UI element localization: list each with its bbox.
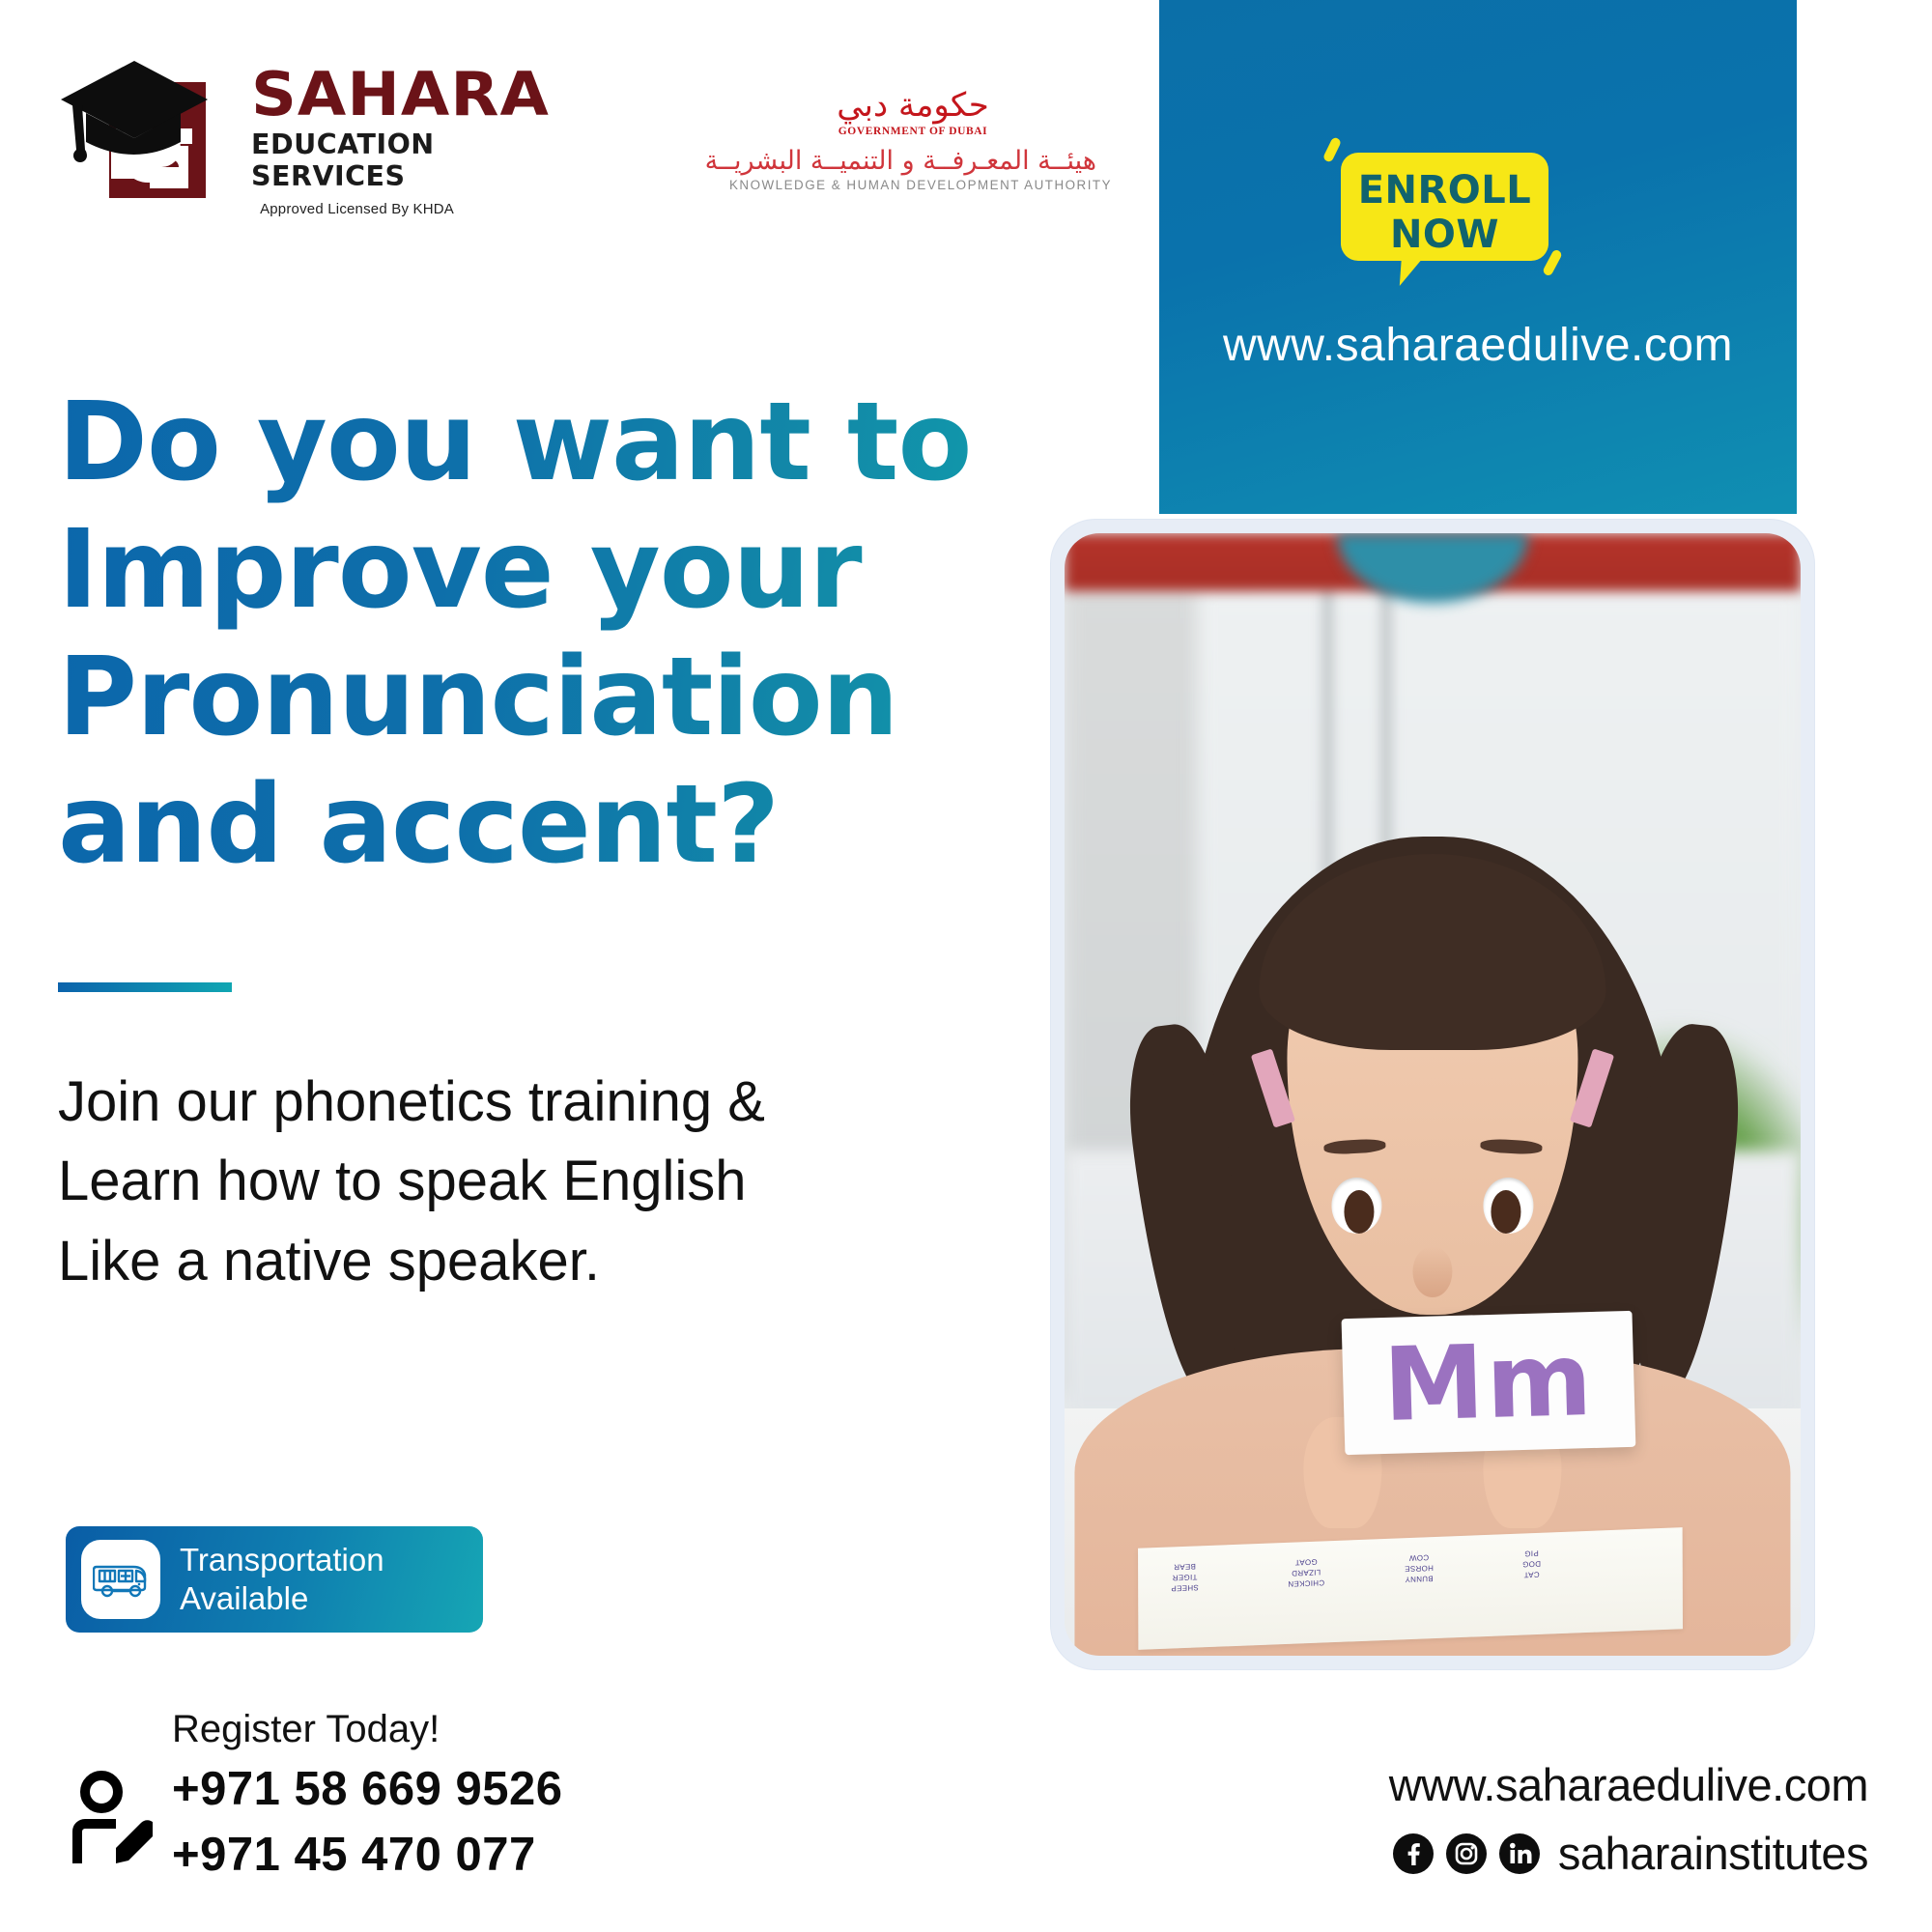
flashcard-letter: Mm xyxy=(1382,1329,1596,1436)
headline-line-2: Improve your xyxy=(58,506,1082,634)
worksheet-word-column: BUNNY HORSE COW xyxy=(1405,1551,1434,1584)
phone-number-1[interactable]: +971 58 669 9526 xyxy=(172,1757,744,1823)
brand-name: SAHARA xyxy=(251,67,465,124)
social-handle[interactable]: saharainstitutes xyxy=(1558,1827,1868,1880)
transportation-line-1: Transportation xyxy=(180,1541,384,1579)
register-today-label: Register Today! xyxy=(172,1708,744,1751)
page-headline: Do you want to Improve your Pronunciatio… xyxy=(58,379,1082,890)
khda-government-english: GOVERNMENT OF DUBAI xyxy=(729,126,1096,137)
headline-line-3: Pronunciation xyxy=(58,634,1082,761)
user-edit-icon xyxy=(71,1769,153,1869)
khda-government-arabic: حكومة دبي xyxy=(729,89,1096,122)
phone-number-2[interactable]: +971 45 470 077 xyxy=(172,1823,744,1889)
panel-website-url[interactable]: www.saharaedulive.com xyxy=(1159,319,1797,372)
student-photo: Mm SHEEP TIGER BEARCHICKEN LIZARD GOATBU… xyxy=(1065,533,1801,1656)
sahara-logo[interactable]: SAHARA EDUCATION SERVICES Approved Licen… xyxy=(53,53,440,208)
brand-accreditation: Approved Licensed By KHDA xyxy=(251,201,454,217)
khda-authority-arabic: هيئــة المعـرفــة و التنميــة البشريــة xyxy=(729,147,1096,176)
footer: www.saharaedulive.com saharainstitutes xyxy=(1389,1758,1868,1880)
headline-line-4: and accent? xyxy=(58,761,1082,889)
worksheet-word-column: SHEEP TIGER BEAR xyxy=(1171,1560,1199,1593)
graduation-cap-icon xyxy=(53,53,237,208)
worksheet-word-column: CHICKEN LIZARD GOAT xyxy=(1288,1555,1324,1588)
enroll-label-line1: ENROLL xyxy=(1341,168,1548,213)
nose xyxy=(1413,1246,1453,1297)
enroll-label-line2: NOW xyxy=(1341,213,1548,257)
footer-website-url[interactable]: www.saharaedulive.com xyxy=(1389,1758,1868,1811)
headline-divider xyxy=(58,982,232,992)
girl-figure: Mm xyxy=(1152,803,1712,1656)
transportation-badge[interactable]: Transportation Available xyxy=(66,1526,483,1633)
social-links: saharainstitutes xyxy=(1389,1827,1868,1880)
brand-subtitle: EDUCATION SERVICES xyxy=(251,128,454,192)
transportation-line-2: Available xyxy=(180,1579,384,1618)
bus-icon xyxy=(93,1558,149,1601)
khda-logo: حكومة دبي GOVERNMENT OF DUBAI هيئــة الم… xyxy=(729,89,1096,192)
subtext-line-1: Join our phonetics training & xyxy=(58,1063,1043,1142)
bus-icon-tile xyxy=(81,1540,160,1619)
facebook-icon[interactable] xyxy=(1393,1833,1434,1874)
subtext-line-3: Like a native speaker. xyxy=(58,1222,1043,1301)
transportation-label: Transportation Available xyxy=(180,1541,384,1617)
pupil-left xyxy=(1344,1190,1374,1234)
flashcard-wrap: Mm xyxy=(1343,1315,1634,1451)
photo-card: Mm SHEEP TIGER BEARCHICKEN LIZARD GOATBU… xyxy=(1051,520,1814,1669)
worksheet: SHEEP TIGER BEARCHICKEN LIZARD GOATBUNNY… xyxy=(1138,1527,1683,1649)
subtext-line-2: Learn how to speak English xyxy=(58,1142,1043,1221)
phone-list: +971 58 669 9526 +971 45 470 077 xyxy=(68,1757,744,1888)
headline-line-1: Do you want to xyxy=(58,379,1082,506)
flashcard: Mm xyxy=(1341,1311,1635,1456)
linkedin-icon[interactable] xyxy=(1499,1833,1540,1874)
khda-authority-english: KNOWLEDGE & HUMAN DEVELOPMENT AUTHORITY xyxy=(729,178,1096,192)
speech-bubble-tail xyxy=(1400,253,1446,286)
enroll-now-badge[interactable]: ENROLL NOW xyxy=(1341,153,1548,278)
contact-block: Register Today! +971 58 669 9526 +971 45… xyxy=(68,1708,744,1888)
pupil-right xyxy=(1491,1190,1520,1234)
subtext-block: Join our phonetics training & Learn how … xyxy=(58,1063,1043,1301)
instagram-icon[interactable] xyxy=(1446,1833,1487,1874)
worksheet-word-column: CAT DOG PIG xyxy=(1522,1547,1541,1578)
